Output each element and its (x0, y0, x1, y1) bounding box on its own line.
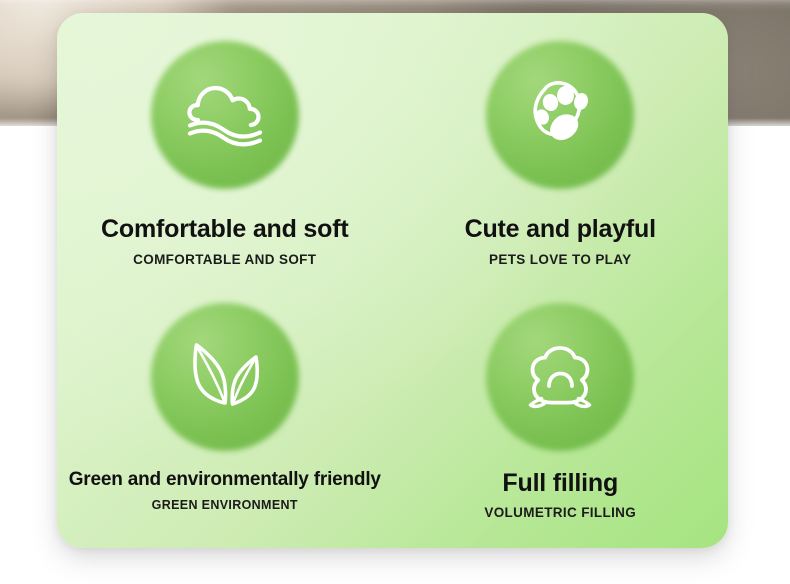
feature-grid: Comfortable and soft COMFORTABLE AND SOF… (57, 13, 728, 548)
leaves-icon (184, 338, 266, 416)
feature-subtitle: VOLUMETRIC FILLING (393, 506, 729, 521)
feature-item-playful[interactable]: Cute and playful PETS LOVE TO PLAY (393, 13, 729, 281)
feature-icon-badge (486, 303, 634, 451)
feature-banner: Comfortable and soft COMFORTABLE AND SOF… (0, 0, 790, 584)
feature-icon-badge (151, 41, 299, 189)
cloud-icon (182, 80, 268, 150)
feature-item-filling[interactable]: Full filling VOLUMETRIC FILLING (393, 281, 729, 549)
feature-caption: Comfortable and soft COMFORTABLE AND SOF… (57, 215, 393, 268)
plush-filling-icon (521, 342, 599, 412)
feature-title: Cute and playful (393, 215, 729, 244)
feature-caption: Full filling VOLUMETRIC FILLING (393, 469, 729, 522)
feature-subtitle: PETS LOVE TO PLAY (393, 253, 729, 268)
feature-subtitle: GREEN ENVIRONMENT (57, 499, 393, 513)
feature-title: Full filling (393, 469, 729, 498)
feature-title: Green and environmentally friendly (57, 469, 393, 491)
feature-caption: Green and environmentally friendly GREEN… (57, 469, 393, 514)
feature-icon-badge (151, 303, 299, 451)
feature-item-comfortable[interactable]: Comfortable and soft COMFORTABLE AND SOF… (57, 13, 393, 281)
feature-item-eco[interactable]: Green and environmentally friendly GREEN… (57, 281, 393, 549)
feature-icon-badge (486, 41, 634, 189)
feature-subtitle: COMFORTABLE AND SOFT (57, 253, 393, 268)
feature-caption: Cute and playful PETS LOVE TO PLAY (393, 215, 729, 268)
feature-card: Comfortable and soft COMFORTABLE AND SOF… (57, 13, 728, 548)
paw-print-icon (520, 75, 600, 155)
feature-title: Comfortable and soft (57, 215, 393, 244)
